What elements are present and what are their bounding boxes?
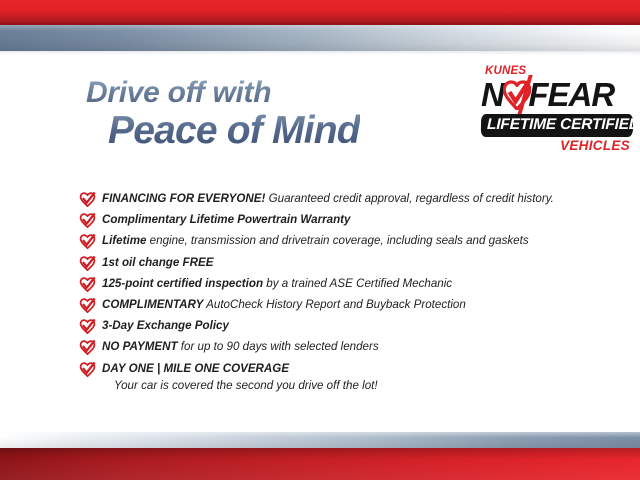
heart-check-icon xyxy=(79,298,96,313)
benefit-detail: AutoCheck History Report and Buyback Pro… xyxy=(203,298,466,311)
headline: Drive off with Peace of Mind xyxy=(86,78,360,150)
heart-check-icon xyxy=(79,256,96,271)
benefit-text: 1st oil change FREE xyxy=(102,255,579,271)
benefit-detail: Guaranteed credit approval, regardless o… xyxy=(265,192,554,205)
headline-line-1: Drive off with xyxy=(86,78,360,108)
logo-no-fear-wordmark: N FEAR xyxy=(481,77,633,113)
benefit-item: 1st oil change FREE xyxy=(79,255,579,272)
benefit-item: FINANCING FOR EVERYONE! Guaranteed credi… xyxy=(79,191,579,208)
benefit-headline: COMPLIMENTARY xyxy=(102,298,203,311)
heart-check-icon xyxy=(79,277,96,292)
benefit-headline: 1st oil change FREE xyxy=(102,256,213,269)
benefit-text: FINANCING FOR EVERYONE! Guaranteed credi… xyxy=(102,191,579,207)
heart-check-icon xyxy=(503,80,531,110)
heart-check-icon xyxy=(79,192,96,207)
top-red-band xyxy=(0,0,640,25)
benefit-headline: Complimentary Lifetime Powertrain Warran… xyxy=(102,213,350,226)
benefits-list: FINANCING FOR EVERYONE! Guaranteed credi… xyxy=(79,191,579,398)
top-slate-band xyxy=(0,25,640,51)
bottom-slate-band xyxy=(0,432,640,448)
benefit-text: 125-point certified inspection by a trai… xyxy=(102,276,579,292)
benefit-detail: engine, transmission and drivetrain cove… xyxy=(146,234,528,247)
benefit-item: Complimentary Lifetime Powertrain Warran… xyxy=(79,212,579,229)
benefit-detail: for up to 90 days with selected lenders xyxy=(178,340,379,353)
benefit-item: NO PAYMENT for up to 90 days with select… xyxy=(79,339,579,356)
benefit-item: Lifetime engine, transmission and drivet… xyxy=(79,233,579,250)
benefit-item: DAY ONE | MILE ONE COVERAGEYour car is c… xyxy=(79,361,579,394)
benefit-headline: 3-Day Exchange Policy xyxy=(102,319,229,332)
benefit-subtext: Your car is covered the second you drive… xyxy=(114,378,579,394)
logo-no-fear-text: N FEAR xyxy=(481,77,614,113)
benefit-text: COMPLIMENTARY AutoCheck History Report a… xyxy=(102,297,579,313)
benefit-headline: 125-point certified inspection xyxy=(102,277,263,290)
heart-check-icon xyxy=(79,340,96,355)
benefit-text: DAY ONE | MILE ONE COVERAGE xyxy=(102,361,579,377)
benefit-detail: by a trained ASE Certified Mechanic xyxy=(263,277,452,290)
headline-line-2-text: Peace of Mind xyxy=(108,109,360,152)
heart-check-icon xyxy=(79,213,96,228)
headline-line-2: Peace of Mind xyxy=(108,111,360,150)
benefit-text: NO PAYMENT for up to 90 days with select… xyxy=(102,339,579,355)
logo-lifetime-certified-banner: LIFETIME CERTIFIED xyxy=(481,114,633,137)
benefit-item: 125-point certified inspection by a trai… xyxy=(79,276,579,293)
benefit-headline: NO PAYMENT xyxy=(102,340,178,353)
kunes-no-fear-logo: KUNES N FEAR LIFETIME CERTIFIED VEHICLES xyxy=(481,66,633,153)
heart-check-icon xyxy=(79,362,96,377)
benefit-item: COMPLIMENTARY AutoCheck History Report a… xyxy=(79,297,579,314)
logo-banner-text: LIFETIME CERTIFIED xyxy=(487,117,627,133)
benefit-headline: Lifetime xyxy=(102,234,146,247)
benefit-text: Complimentary Lifetime Powertrain Warran… xyxy=(102,212,579,228)
benefit-text: Lifetime engine, transmission and drivet… xyxy=(102,233,579,249)
bottom-red-band xyxy=(0,448,640,480)
logo-vehicles-text: VEHICLES xyxy=(481,139,633,153)
logo-word-fear: FEAR xyxy=(528,76,614,113)
benefit-text: 3-Day Exchange Policy xyxy=(102,318,579,334)
promo-poster: Drive off with Peace of Mind KUNES N FEA… xyxy=(0,0,640,480)
benefit-headline: DAY ONE | MILE ONE COVERAGE xyxy=(102,362,289,375)
benefit-headline: FINANCING FOR EVERYONE! xyxy=(102,192,265,205)
heart-check-icon xyxy=(79,319,96,334)
logo-letter-n: N xyxy=(481,76,504,113)
benefit-item: 3-Day Exchange Policy xyxy=(79,318,579,335)
heart-check-icon xyxy=(79,234,96,249)
